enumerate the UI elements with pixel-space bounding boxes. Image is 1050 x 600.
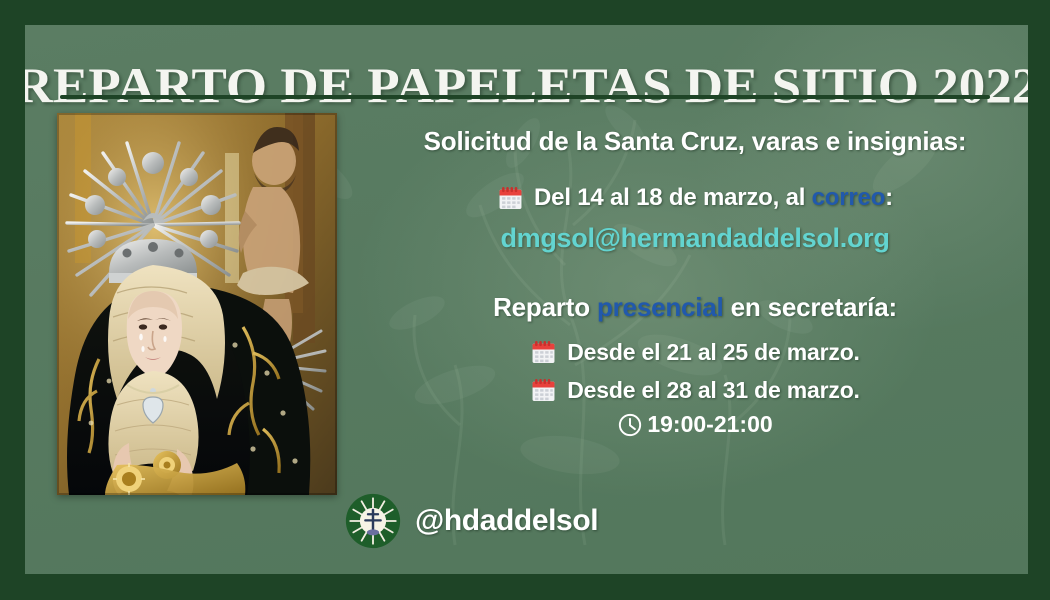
title-divider [60, 95, 990, 99]
hermandad-del-sol-logo [345, 493, 401, 549]
page-title: REPARTO DE PAPELETAS DE SITIO 2022 [25, 58, 1028, 112]
poster-title-block: REPARTO DE PAPELETAS DE SITIO 2022 [25, 58, 1028, 112]
solicitud-date-row: Del 14 al 18 de marzo, al correo: [370, 181, 1020, 215]
calendar-icon [497, 184, 524, 212]
reparto-time-row: 19:00-21:00 [370, 411, 1020, 438]
virgen-dolorosa-photo [57, 113, 337, 495]
poster-panel: REPARTO DE PAPELETAS DE SITIO 2022 [25, 25, 1028, 574]
reparto-heading: Reparto presencial en secretaría: [370, 291, 1020, 323]
reparto-date-text-1: Desde el 21 al 25 de marzo. [567, 335, 859, 369]
social-handle-block: @hdaddelsol [345, 493, 705, 549]
reparto-time-text: 19:00-21:00 [647, 411, 772, 438]
reparto-date-text-2: Desde el 28 al 31 de marzo. [567, 373, 859, 407]
solicitud-date-text: Del 14 al 18 de marzo, al correo: [534, 181, 893, 215]
email-address[interactable]: dmgsol@hermandaddelsol.org [370, 219, 1020, 257]
solicitud-heading: Solicitud de la Santa Cruz, varas e insi… [370, 125, 1020, 157]
reparto-date-row-1: Desde el 21 al 25 de marzo. [370, 335, 1020, 369]
solicitud-date-before: Del 14 al 18 de marzo, al [534, 184, 812, 211]
announcement-content: Solicitud de la Santa Cruz, varas e insi… [370, 125, 1020, 438]
clock-icon [617, 412, 643, 438]
reparto-heading-before: Reparto [493, 292, 597, 322]
poster-root: REPARTO DE PAPELETAS DE SITIO 2022 [0, 0, 1050, 600]
correo-link[interactable]: correo [812, 184, 886, 211]
reparto-date-row-2: Desde el 28 al 31 de marzo. [370, 373, 1020, 407]
reparto-heading-after: en secretaría: [724, 292, 897, 322]
solicitud-date-after: : [885, 184, 893, 211]
social-handle[interactable]: @hdaddelsol [415, 504, 598, 538]
calendar-icon [530, 376, 557, 404]
calendar-icon [530, 338, 557, 366]
reparto-heading-highlight: presencial [597, 292, 724, 322]
